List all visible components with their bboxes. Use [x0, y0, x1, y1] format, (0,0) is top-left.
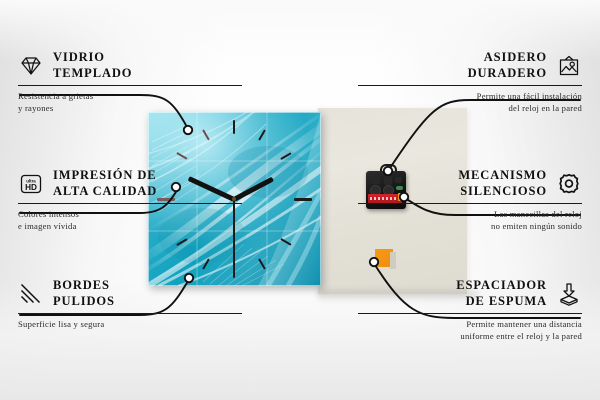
feature-desc-line1: Resistencia a grietas: [18, 90, 242, 102]
feature-asidero-duradero[interactable]: ASIDERO DURADERO Permite una fácil insta…: [358, 50, 582, 115]
feature-title: BORDES PULIDOS: [53, 278, 115, 310]
feature-desc-line2: del reloj en la pared: [358, 102, 582, 114]
feature-title: ESPACIADOR DE ESPUMA: [456, 278, 547, 310]
feature-title-line2: SILENCIOSO: [458, 184, 547, 200]
feature-heading: MECANISMO SILENCIOSO: [358, 168, 582, 200]
feature-desc-line2: e imagen vívida: [18, 220, 242, 232]
feature-title: MECANISMO SILENCIOSO: [458, 168, 547, 200]
feature-description: Permite mantener una distancia uniforme …: [358, 318, 582, 343]
feature-title-line2: ALTA CALIDAD: [53, 184, 157, 200]
feature-divider: [18, 313, 242, 314]
feature-heading: ultra HD IMPRESIÓN DE ALTA CALIDAD: [18, 168, 242, 200]
feature-title-line1: ASIDERO: [468, 50, 547, 66]
feature-desc-line2: uniforme entre el reloj y la pared: [358, 330, 582, 342]
feature-impresion-alta-calidad[interactable]: ultra HD IMPRESIÓN DE ALTA CALIDAD Color…: [18, 168, 242, 233]
feature-title-line1: VIDRIO: [53, 50, 132, 66]
feature-description: Colores intensos e imagen vívida: [18, 208, 242, 233]
arrow-down-pad-icon: [556, 282, 582, 306]
feature-description: Resistencia a grietas y rayones: [18, 90, 242, 115]
feature-divider: [358, 203, 582, 204]
gear-icon: [556, 172, 582, 196]
diamond-icon: [18, 54, 44, 78]
feature-mecanismo-silencioso[interactable]: MECANISMO SILENCIOSO Las manecillas del …: [358, 168, 582, 233]
feature-title-line1: MECANISMO: [458, 168, 547, 184]
diagonal-lines-icon: [18, 282, 44, 306]
feature-title-line1: ESPACIADOR: [456, 278, 547, 294]
picture-frame-hanger-icon: [556, 54, 582, 78]
feature-desc-line1: Permite una fácil instalación: [358, 90, 582, 102]
feature-title-line2: TEMPLADO: [53, 66, 132, 82]
clock-tick-12: [233, 120, 235, 134]
feature-title: IMPRESIÓN DE ALTA CALIDAD: [53, 168, 157, 200]
feature-heading: ASIDERO DURADERO: [358, 50, 582, 82]
feature-heading: BORDES PULIDOS: [18, 278, 242, 310]
feature-title-line2: PULIDOS: [53, 294, 115, 310]
feature-title: VIDRIO TEMPLADO: [53, 50, 132, 82]
feature-divider: [358, 313, 582, 314]
feature-title-line2: DURADERO: [468, 66, 547, 82]
feature-description: Permite una fácil instalación del reloj …: [358, 90, 582, 115]
feature-title-line1: IMPRESIÓN DE: [53, 168, 157, 184]
ultra-hd-icon: ultra HD: [18, 172, 44, 196]
feature-divider: [18, 85, 242, 86]
feature-desc-line1: Las manecillas del reloj: [358, 208, 582, 220]
feature-heading: ESPACIADOR DE ESPUMA: [358, 278, 582, 310]
feature-description: Las manecillas del reloj no emiten ningú…: [358, 208, 582, 233]
svg-text:HD: HD: [25, 183, 37, 192]
feature-vidrio-templado[interactable]: VIDRIO TEMPLADO Resistencia a grietas y …: [18, 50, 242, 115]
foam-spacer-shadow: [390, 252, 396, 269]
feature-divider: [18, 203, 242, 204]
feature-description: Superficie lisa y segura: [18, 318, 242, 330]
feature-divider: [358, 85, 582, 86]
feature-desc-line2: y rayones: [18, 102, 242, 114]
feature-desc-line1: Superficie lisa y segura: [18, 318, 242, 330]
feature-heading: VIDRIO TEMPLADO: [18, 50, 242, 82]
feature-bordes-pulidos[interactable]: BORDES PULIDOS Superficie lisa y segura: [18, 278, 242, 330]
feature-title-line2: DE ESPUMA: [456, 294, 547, 310]
feature-desc-line1: Permite mantener una distancia: [358, 318, 582, 330]
feature-desc-line2: no emiten ningún sonido: [358, 220, 582, 232]
clock-tick-3: [294, 198, 312, 201]
feature-title-line1: BORDES: [53, 278, 115, 294]
feature-title: ASIDERO DURADERO: [468, 50, 547, 82]
feature-espaciador-de-espuma[interactable]: ESPACIADOR DE ESPUMA Permite mantener un…: [358, 278, 582, 343]
infographic-canvas: VIDRIO TEMPLADO Resistencia a grietas y …: [0, 0, 600, 400]
feature-desc-line1: Colores intensos: [18, 208, 242, 220]
